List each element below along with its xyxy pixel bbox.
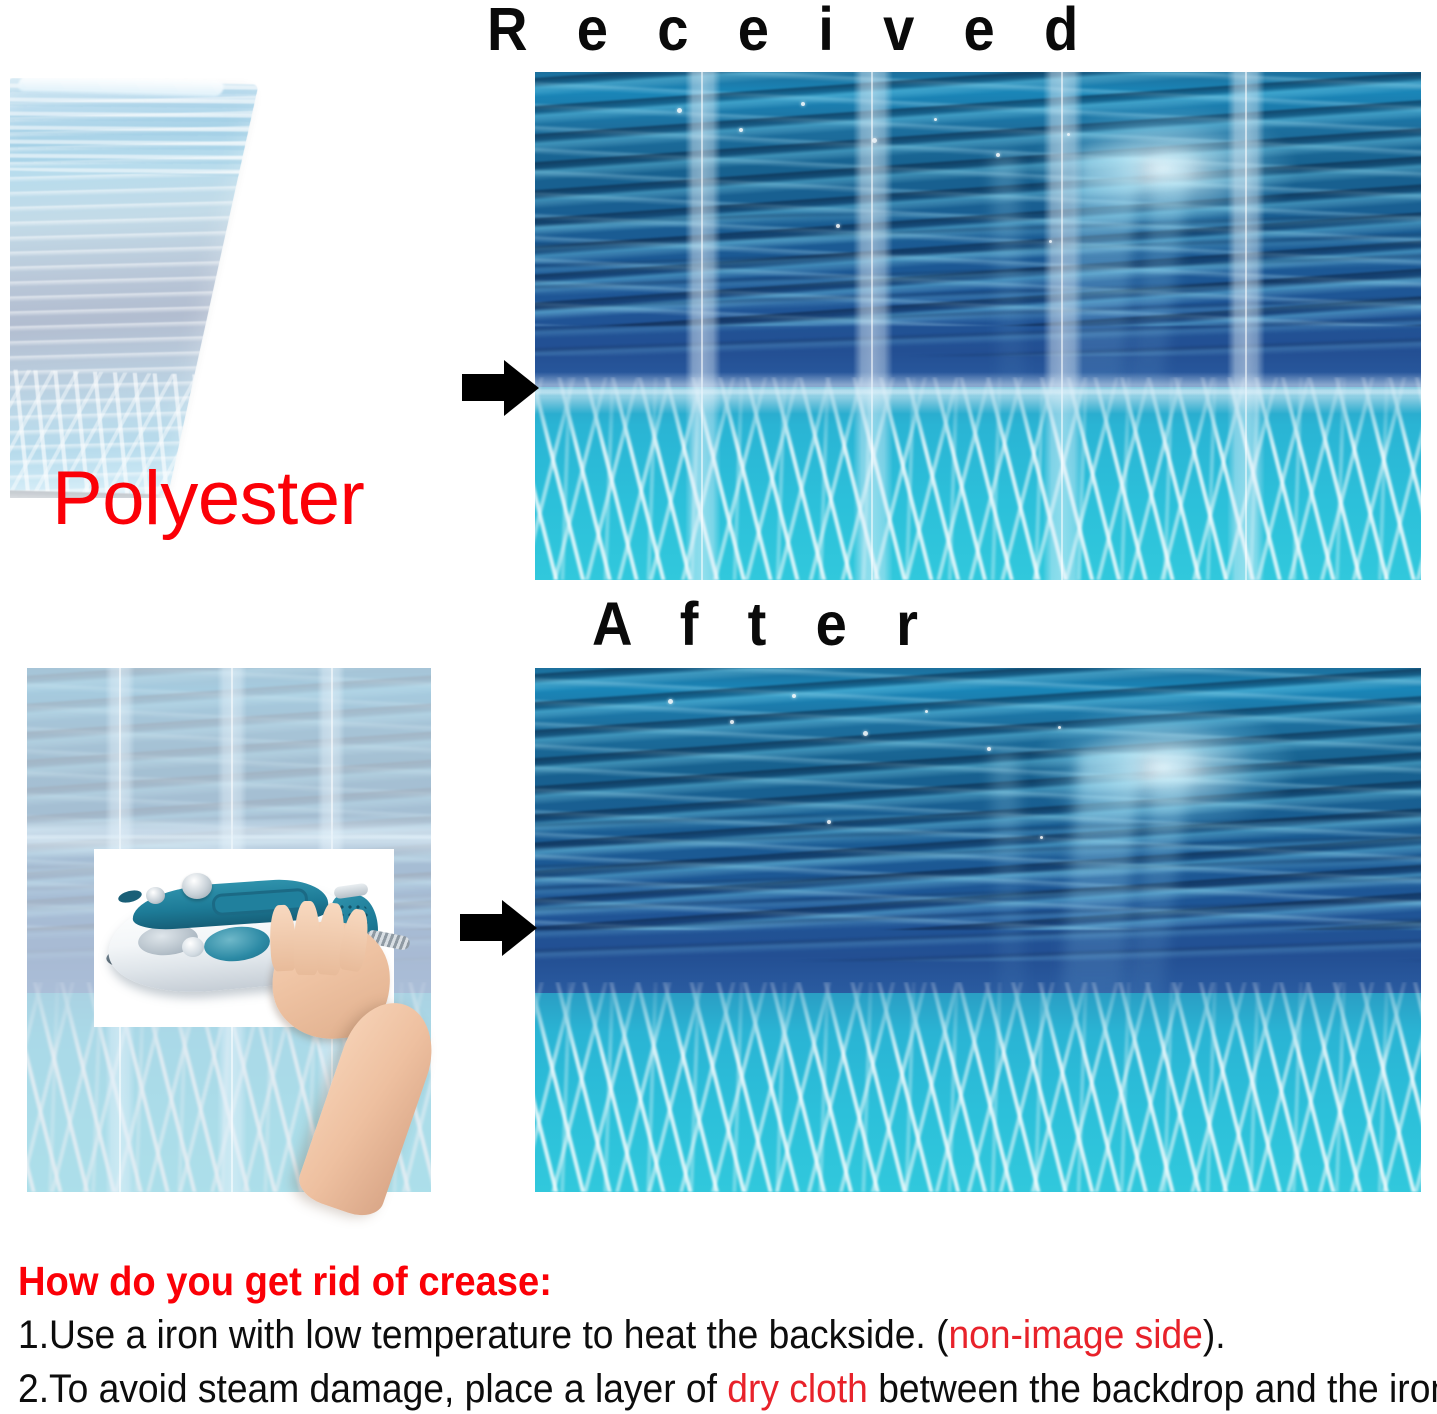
iron-temperature-knob [182, 937, 204, 957]
material-label: Polyester [52, 459, 364, 539]
step1-highlight: non-image side [948, 1313, 1202, 1357]
step2-text-a: 2.To avoid steam damage, place a layer o… [18, 1367, 727, 1411]
step1-text-a: 1.Use a iron with low temperature to hea… [18, 1313, 948, 1357]
steam-iron-icon [94, 849, 394, 1027]
underwater-scene [535, 668, 1421, 1192]
step1-text-b: ). [1203, 1313, 1226, 1357]
arrow-head [504, 360, 539, 416]
instruction-step-2: 2.To avoid steam damage, place a layer o… [18, 1364, 1329, 1414]
mid-ripples [535, 214, 1421, 356]
after-backdrop-photo [535, 668, 1421, 1192]
right-arrow-icon [460, 900, 540, 956]
received-backdrop-photo [535, 72, 1421, 580]
seabed-caustics [535, 982, 1421, 1192]
arrow-shaft [460, 914, 506, 941]
instructions-heading: How do you get rid of crease: [18, 1256, 1329, 1306]
right-arrow-icon [462, 360, 542, 416]
arrow-head [502, 900, 537, 956]
infographic-canvas: R e c e i v e d A f t e r Polyester [0, 0, 1437, 1401]
iron-steam-dial [182, 873, 212, 899]
iron-steam-button [146, 887, 165, 904]
step2-text-b: between the backdrop and the iron. [868, 1367, 1437, 1411]
instructions-block: How do you get rid of crease: 1.Use a ir… [18, 1256, 1428, 1414]
arrow-shaft [462, 374, 508, 401]
cloth-sheet [10, 78, 259, 494]
folded-cloth-photo [10, 78, 410, 498]
received-heading: R e c e i v e d [487, 0, 1095, 61]
instruction-step-1: 1.Use a iron with low temperature to hea… [18, 1310, 1329, 1360]
seabed-caustics [535, 377, 1421, 580]
after-heading: A f t e r [592, 592, 935, 656]
mid-ripples [535, 815, 1421, 962]
step2-highlight: dry cloth [727, 1367, 868, 1411]
underwater-scene [535, 72, 1421, 580]
iron-demo-inset [94, 849, 394, 1027]
iron-vent [117, 888, 143, 904]
